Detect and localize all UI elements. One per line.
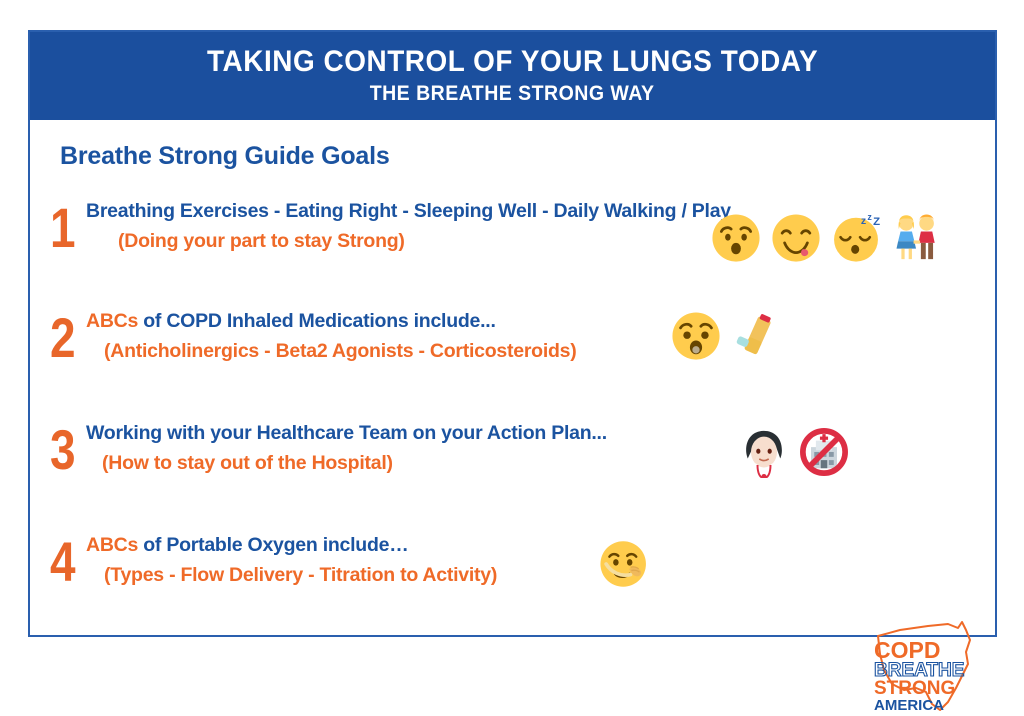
goal-number-4: 4: [50, 532, 84, 592]
header-title: TAKING CONTROL OF YOUR LUNGS TODAY: [207, 46, 818, 78]
svg-text:Z: Z: [873, 216, 880, 228]
goal-emoji-group-3: [738, 426, 850, 478]
goal-abc-prefix-2: ABCs: [86, 310, 138, 332]
goal-emoji-group-1: z z Z: [710, 212, 942, 264]
goal-main-text-2: of COPD Inhaled Medications include...: [138, 310, 496, 332]
goal-number-2: 2: [50, 308, 84, 368]
face-savoring-food-icon: [770, 212, 822, 264]
goal-text-2: ABCs of COPD Inhaled Medications include…: [86, 308, 985, 364]
goal-number-1: 1: [50, 198, 84, 258]
goal-text-3: Working with your Healthcare Team on you…: [86, 420, 985, 476]
goal-sub-line-4: (Types - Flow Delivery - Titration to Ac…: [104, 562, 985, 588]
poster-canvas: TAKING CONTROL OF YOUR LUNGS TODAY THE B…: [0, 0, 1024, 663]
goal-emoji-group-2: [670, 310, 782, 362]
face-with-oxygen-cannula-icon: [598, 538, 650, 590]
goal-item-1: 1 Breathing Exercises - Eating Right - S…: [50, 198, 985, 290]
goal-main-line-3: Working with your Healthcare Team on you…: [86, 420, 985, 446]
goal-sub-line-3: (How to stay out of the Hospital): [102, 450, 985, 476]
poster-header: TAKING CONTROL OF YOUR LUNGS TODAY THE B…: [30, 32, 995, 120]
inhaler-icon: [730, 310, 782, 362]
man-and-woman-holding-hands-icon: [890, 212, 942, 264]
goal-number-3: 3: [50, 420, 84, 480]
copd-breathe-strong-america-logo: COPD BREATHE STRONG AMERICA: [870, 618, 980, 716]
astonished-face-icon: [670, 310, 722, 362]
goal-abc-prefix-4: ABCs: [86, 534, 138, 556]
goal-emoji-group-4: [598, 538, 650, 590]
goal-main-text-1: Breathing Exercises - Eating Right - Sle…: [86, 200, 731, 222]
woman-health-worker-icon: [738, 426, 790, 478]
goal-item-3: 3 Working with your Healthcare Team on y…: [50, 420, 985, 512]
goal-text-4: ABCs of Portable Oxygen include… (Types …: [86, 532, 985, 588]
logo-line-strong: STRONG: [874, 678, 955, 699]
header-subtitle: THE BREATHE STRONG WAY: [370, 81, 655, 106]
face-with-open-mouth-icon: [710, 212, 762, 264]
goal-main-line-2: ABCs of COPD Inhaled Medications include…: [86, 308, 985, 334]
svg-text:z: z: [867, 212, 872, 222]
page-title: Breathe Strong Guide Goals: [60, 142, 390, 171]
goal-main-text-3: Working with your Healthcare Team on you…: [86, 422, 607, 444]
goal-sub-line-2: (Anticholinergics - Beta2 Agonists - Cor…: [104, 338, 985, 364]
poster-body: Breathe Strong Guide Goals 1 Breathing E…: [30, 120, 995, 635]
logo-line-america: AMERICA: [874, 697, 944, 714]
goal-main-text-4: of Portable Oxygen include…: [138, 534, 408, 556]
poster-card: TAKING CONTROL OF YOUR LUNGS TODAY THE B…: [28, 30, 997, 637]
goal-item-2: 2 ABCs of COPD Inhaled Medications inclu…: [50, 308, 985, 400]
goal-item-4: 4 ABCs of Portable Oxygen include… (Type…: [50, 532, 985, 624]
svg-text:z: z: [861, 215, 866, 227]
sleeping-face-icon: z z Z: [830, 212, 882, 264]
goal-main-line-4: ABCs of Portable Oxygen include…: [86, 532, 985, 558]
no-hospital-icon: [798, 426, 850, 478]
